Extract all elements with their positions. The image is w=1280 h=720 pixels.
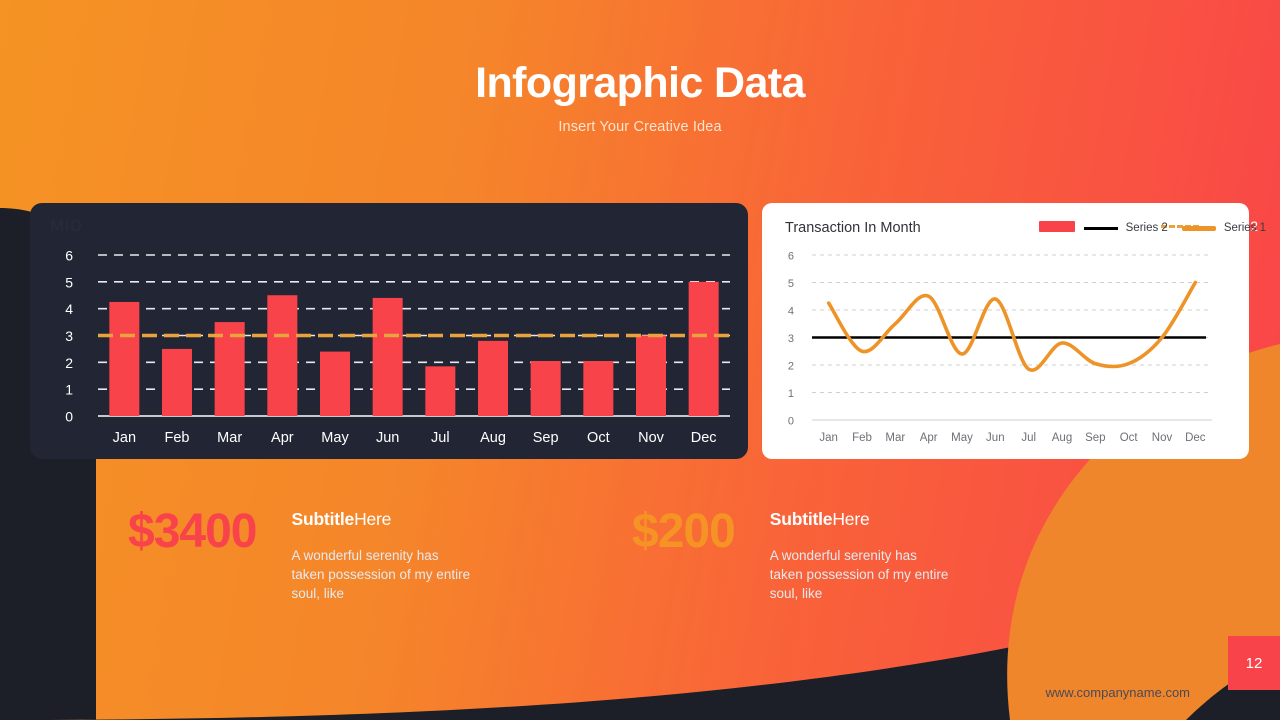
page-subtitle: Insert Your Creative Idea (0, 119, 1280, 135)
svg-text:Apr: Apr (920, 432, 938, 444)
svg-text:5: 5 (788, 278, 794, 290)
svg-text:5: 5 (65, 274, 73, 290)
svg-text:Jun: Jun (376, 430, 399, 446)
svg-text:1: 1 (788, 388, 794, 400)
slide-header: Infographic Data Insert Your Creative Id… (0, 60, 1280, 135)
svg-text:4: 4 (65, 301, 73, 317)
svg-text:Oct: Oct (587, 430, 610, 446)
bar-chart-plot: 0123456JanFebMarAprMayJunJulAugSepOctNov… (30, 203, 748, 459)
svg-text:Jul: Jul (1021, 432, 1036, 444)
stat-heading-bold-1: Subtitle (291, 509, 354, 529)
svg-text:1: 1 (65, 382, 73, 398)
stat-amount-2: $200 (632, 500, 735, 556)
svg-text:Jul: Jul (431, 430, 450, 446)
stat-amount-1: $3400 (128, 500, 256, 556)
svg-text:Oct: Oct (1120, 432, 1139, 444)
stats-section: $3400 SubtitleHere A wonderful serenity … (0, 500, 1280, 620)
svg-text:Dec: Dec (1185, 432, 1206, 444)
svg-text:Sep: Sep (1085, 432, 1105, 444)
svg-text:Nov: Nov (1152, 432, 1173, 444)
svg-text:Aug: Aug (1052, 432, 1072, 444)
slide-canvas: Infographic Data Insert Your Creative Id… (0, 0, 1280, 720)
svg-text:6: 6 (788, 251, 794, 263)
svg-text:Aug: Aug (480, 430, 506, 446)
stat-heading-2: SubtitleHere (770, 509, 950, 530)
stat-text-1: SubtitleHere A wonderful serenity has ta… (291, 500, 471, 603)
svg-text:Dec: Dec (691, 430, 717, 446)
svg-text:3: 3 (65, 328, 73, 344)
svg-text:Mar: Mar (885, 432, 905, 444)
stat-block-1: $3400 SubtitleHere A wonderful serenity … (128, 500, 471, 603)
bar-chart-svg: 0123456JanFebMarAprMayJunJulAugSepOctNov… (30, 203, 748, 459)
svg-text:2: 2 (65, 355, 73, 371)
svg-text:Nov: Nov (638, 430, 665, 446)
svg-text:0: 0 (65, 409, 73, 425)
svg-text:May: May (951, 432, 973, 444)
stat-text-2: SubtitleHere A wonderful serenity has ta… (770, 500, 950, 603)
svg-text:Mar: Mar (217, 430, 242, 446)
stat-body-1: A wonderful serenity has taken possessio… (291, 546, 471, 603)
svg-text:Sep: Sep (533, 430, 559, 446)
stat-heading-bold-2: Subtitle (770, 509, 833, 529)
svg-text:Jan: Jan (113, 430, 136, 446)
svg-text:6: 6 (65, 248, 73, 264)
company-website-url: www.companyname.com (1046, 685, 1191, 700)
svg-text:Jan: Jan (819, 432, 838, 444)
svg-text:3: 3 (788, 333, 794, 345)
stat-heading-rest-2: Here (832, 509, 869, 529)
line-chart-plot: 0123456JanFebMarAprMayJunJulAugSepOctNov… (762, 203, 1249, 459)
svg-text:May: May (321, 430, 349, 446)
svg-text:0: 0 (788, 416, 794, 428)
line-chart-svg: 0123456JanFebMarAprMayJunJulAugSepOctNov… (762, 203, 1249, 459)
stat-heading-rest-1: Here (354, 509, 391, 529)
svg-text:Jun: Jun (986, 432, 1005, 444)
svg-text:4: 4 (788, 306, 794, 318)
page-title: Infographic Data (0, 60, 1280, 107)
svg-text:Apr: Apr (271, 430, 294, 446)
page-number-badge: 12 (1228, 636, 1280, 690)
svg-text:2: 2 (788, 361, 794, 373)
stat-body-2: A wonderful serenity has taken possessio… (770, 546, 950, 603)
stat-heading-1: SubtitleHere (291, 509, 471, 530)
svg-text:Feb: Feb (165, 430, 190, 446)
stat-block-2: $200 SubtitleHere A wonderful serenity h… (632, 500, 950, 603)
svg-text:Feb: Feb (852, 432, 872, 444)
